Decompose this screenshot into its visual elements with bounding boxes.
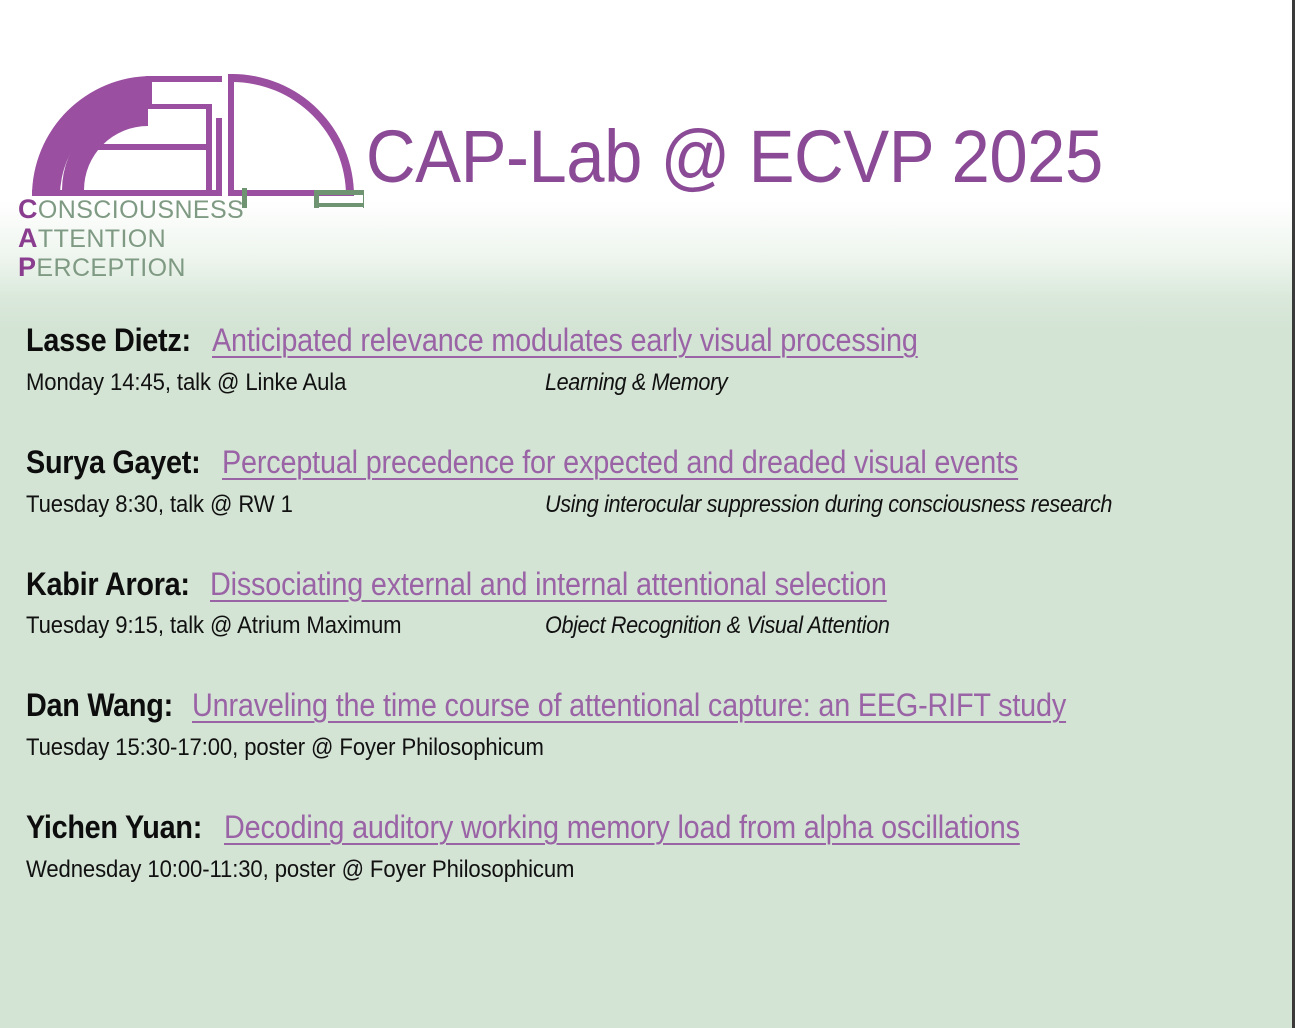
entry-headline: Yichen Yuan: Decoding auditory working m… (26, 809, 1292, 847)
list-item: Lasse Dietz: Anticipated relevance modul… (26, 322, 1292, 397)
wordmark-line-consciousness: CONSCIOUSNESS (18, 196, 244, 223)
entry-schedule: Wednesday 10:00-11:30, poster @ Foyer Ph… (26, 856, 503, 884)
list-item: Surya Gayet: Perceptual precedence for e… (26, 444, 1292, 519)
entry-presenter: Kabir Arora: (26, 566, 190, 604)
entry-schedule: Tuesday 8:30, talk @ RW 1 (26, 491, 503, 519)
entry-headline: Kabir Arora: Dissociating external and i… (26, 566, 1292, 604)
entry-schedule: Tuesday 15:30-17:00, poster @ Foyer Phil… (26, 734, 503, 762)
entry-title-link[interactable]: Unraveling the time course of attentiona… (192, 687, 1066, 725)
entry-schedule: Tuesday 9:15, talk @ Atrium Maximum (26, 612, 503, 640)
entry-title-link[interactable]: Perceptual precedence for expected and d… (222, 444, 1018, 482)
wordmark-rest-consciousness: ONSCIOUSNESS (38, 196, 244, 224)
logo-lab-a-bar (314, 203, 364, 207)
entry-session: Learning & Memory (545, 369, 727, 397)
entry-presenter: Yichen Yuan: (26, 809, 202, 847)
entry-meta: Tuesday 8:30, talk @ RW 1 Using interocu… (26, 491, 1292, 519)
entry-session: Object Recognition & Visual Attention (545, 612, 890, 640)
page-title: CAP-Lab @ ECVP 2025 (45, 120, 1247, 194)
list-item: Kabir Arora: Dissociating external and i… (26, 566, 1292, 641)
wordmark-initial-p: P (18, 252, 36, 282)
wordmark-initial-a: A (18, 223, 38, 253)
entry-title-link[interactable]: Decoding auditory working memory load fr… (224, 809, 1020, 847)
entry-meta: Monday 14:45, talk @ Linke Aula Learning… (26, 369, 1292, 397)
slide-root: CONSCIOUSNESS ATTENTION PERCEPTION CAP-L… (0, 0, 1295, 1028)
logo-wordmark: CONSCIOUSNESS ATTENTION PERCEPTION (18, 196, 244, 283)
entry-presenter: Dan Wang: (26, 687, 173, 725)
entry-meta: Wednesday 10:00-11:30, poster @ Foyer Ph… (26, 856, 1292, 884)
entry-session: Using interocular suppression during con… (545, 491, 1112, 519)
wordmark-rest-attention: TTENTION (38, 225, 166, 253)
entry-headline: Surya Gayet: Perceptual precedence for e… (26, 444, 1292, 482)
logo-c-top (146, 76, 222, 82)
entry-schedule: Monday 14:45, talk @ Linke Aula (26, 369, 503, 397)
entry-title-link[interactable]: Dissociating external and internal atten… (210, 566, 887, 604)
entry-meta: Tuesday 9:15, talk @ Atrium Maximum Obje… (26, 612, 1292, 640)
entry-headline: Lasse Dietz: Anticipated relevance modul… (26, 322, 1292, 360)
presentation-list: Lasse Dietz: Anticipated relevance modul… (0, 322, 1292, 884)
wordmark-line-attention: ATTENTION (18, 225, 244, 252)
slide-header: CONSCIOUSNESS ATTENTION PERCEPTION CAP-L… (0, 0, 1292, 290)
entry-presenter: Surya Gayet: (26, 444, 200, 482)
wordmark-rest-perception: ERCEPTION (36, 254, 185, 282)
entry-meta: Tuesday 15:30-17:00, poster @ Foyer Phil… (26, 734, 1292, 762)
entry-presenter: Lasse Dietz: (26, 322, 191, 360)
list-item: Dan Wang: Unraveling the time course of … (26, 687, 1292, 762)
wordmark-initial-c: C (18, 194, 38, 224)
list-item: Yichen Yuan: Decoding auditory working m… (26, 809, 1292, 884)
entry-title-link[interactable]: Anticipated relevance modulates early vi… (212, 322, 918, 360)
entry-headline: Dan Wang: Unraveling the time course of … (26, 687, 1292, 725)
logo-a-top (114, 104, 212, 109)
wordmark-line-perception: PERCEPTION (18, 254, 244, 281)
